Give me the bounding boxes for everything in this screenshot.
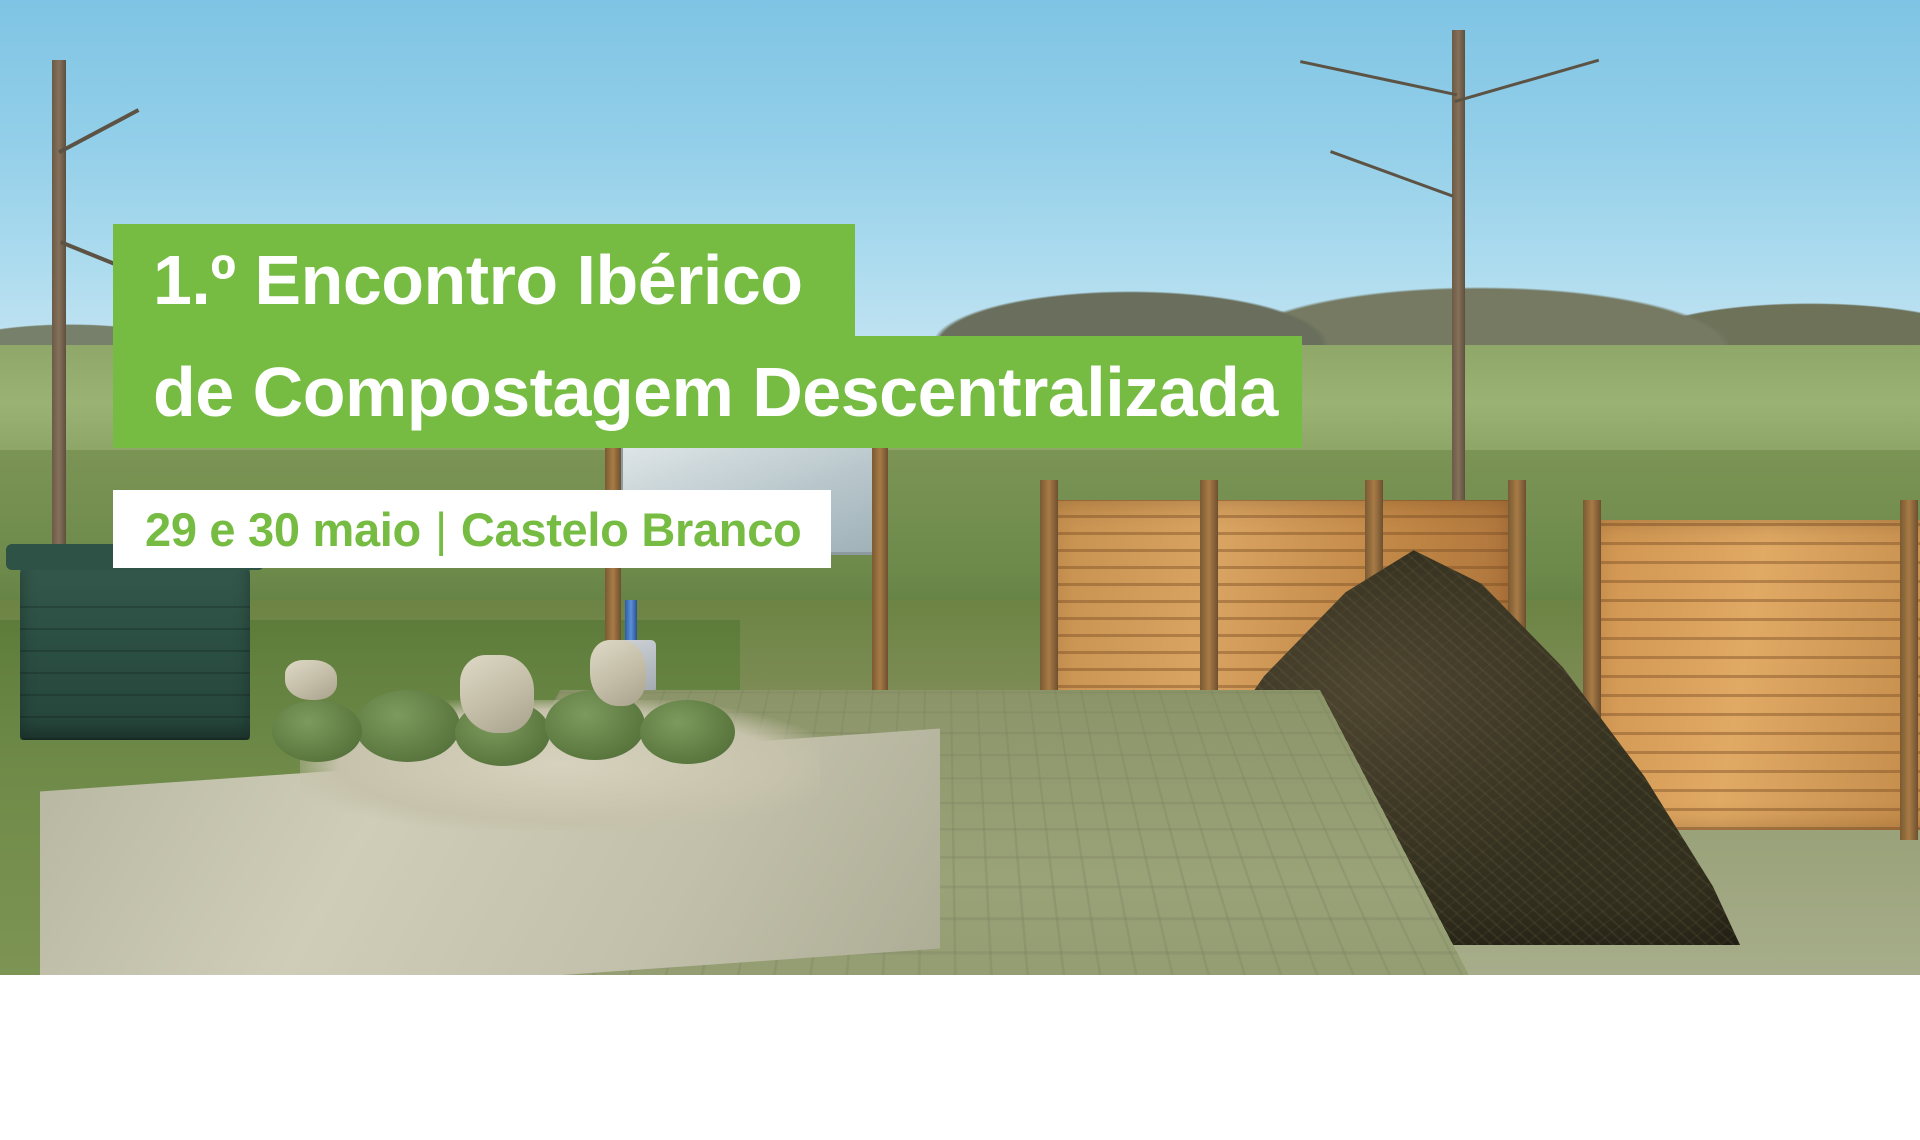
poster-title-line-1: 1.º Encontro Ibérico bbox=[113, 224, 855, 336]
sponsor-bar: Organizadores: Apoiantes: Patrocinadores… bbox=[0, 975, 1920, 1140]
rock bbox=[590, 640, 646, 706]
rock bbox=[460, 655, 534, 733]
background-photo bbox=[0, 0, 1920, 975]
date-location-banner: 29 e 30 maio | Castelo Branco bbox=[113, 490, 831, 568]
shrub bbox=[272, 700, 362, 762]
event-date: 29 e 30 maio bbox=[145, 502, 421, 557]
shrub bbox=[355, 690, 460, 762]
date-location-separator: | bbox=[435, 502, 447, 557]
event-poster: 1.º Encontro Ibérico de Compostagem Desc… bbox=[0, 0, 1920, 1140]
shrub bbox=[640, 700, 735, 764]
event-location: Castelo Branco bbox=[461, 502, 802, 557]
composter-bin bbox=[20, 560, 250, 740]
tree-trunk-left bbox=[52, 60, 66, 580]
rock bbox=[285, 660, 337, 700]
fence-post bbox=[1900, 500, 1918, 840]
poster-title-line-2: de Compostagem Descentralizada bbox=[113, 336, 1302, 448]
